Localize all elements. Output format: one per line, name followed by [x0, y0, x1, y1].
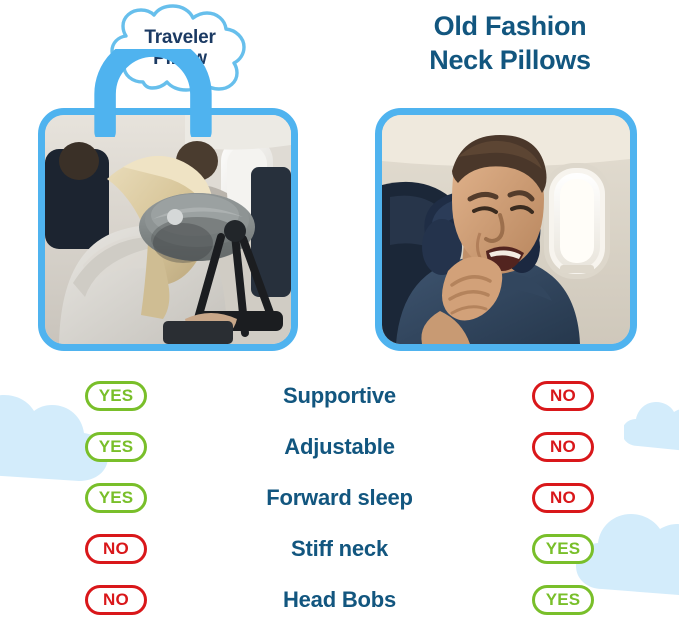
table-row: YES Adjustable NO	[0, 421, 679, 472]
photo-old-fashion-pillow-image	[382, 115, 630, 344]
status-badge-left: NO	[85, 534, 147, 564]
row-right-cell: YES	[447, 585, 679, 615]
status-badge-right: NO	[532, 432, 594, 462]
photo-old-fashion-pillow	[375, 108, 637, 351]
arch-icon	[83, 49, 223, 137]
row-feature-label: Adjustable	[232, 434, 447, 460]
photo-traveler-pillow	[38, 108, 298, 351]
comparison-table: YES Supportive NO YES Adjustable NO YES …	[0, 370, 679, 625]
row-feature-label: Supportive	[232, 383, 447, 409]
right-column-title: Old Fashion Neck Pillows	[360, 10, 660, 78]
status-badge-left: NO	[85, 585, 147, 615]
comparison-infographic: Traveler Pillow Old Fashion Neck Pillows	[0, 0, 679, 625]
brand-logo: Traveler Pillow	[110, 4, 250, 92]
right-title-line-2: Neck Pillows	[360, 44, 660, 78]
row-left-cell: YES	[0, 432, 232, 462]
row-left-cell: YES	[0, 381, 232, 411]
photo-traveler-pillow-image	[45, 115, 291, 344]
row-right-cell: NO	[447, 483, 679, 513]
row-left-cell: NO	[0, 534, 232, 564]
status-badge-right: NO	[532, 483, 594, 513]
logo-line-1: Traveler	[144, 28, 215, 48]
row-feature-label: Stiff neck	[232, 536, 447, 562]
row-right-cell: NO	[447, 432, 679, 462]
row-left-cell: YES	[0, 483, 232, 513]
status-badge-right: NO	[532, 381, 594, 411]
status-badge-left: YES	[85, 432, 147, 462]
logo-line-2: Pillow	[153, 49, 207, 69]
status-badge-left: YES	[85, 381, 147, 411]
table-row: YES Forward sleep NO	[0, 472, 679, 523]
header: Traveler Pillow Old Fashion Neck Pillows	[0, 0, 679, 100]
table-row: NO Stiff neck YES	[0, 523, 679, 574]
status-badge-left: YES	[85, 483, 147, 513]
row-right-cell: NO	[447, 381, 679, 411]
row-feature-label: Forward sleep	[232, 485, 447, 511]
status-badge-right: YES	[532, 534, 594, 564]
right-title-line-1: Old Fashion	[360, 10, 660, 44]
status-badge-right: YES	[532, 585, 594, 615]
row-left-cell: NO	[0, 585, 232, 615]
table-row: YES Supportive NO	[0, 370, 679, 421]
row-right-cell: YES	[447, 534, 679, 564]
table-row: NO Head Bobs YES	[0, 574, 679, 625]
row-feature-label: Head Bobs	[232, 587, 447, 613]
